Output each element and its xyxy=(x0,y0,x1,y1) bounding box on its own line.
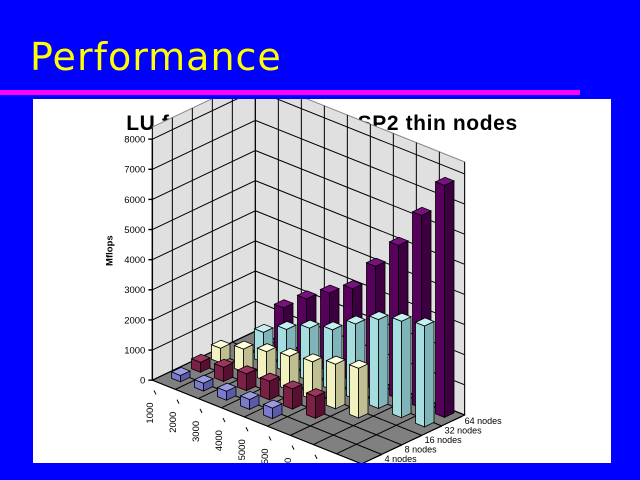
x-axis-tick xyxy=(200,409,202,413)
y-axis-tick-label: 7000 xyxy=(124,165,145,176)
x-axis-tick-label: 3000 xyxy=(191,421,202,442)
bar-side-face xyxy=(402,317,412,418)
bar-8-nodes-2000[interactable] xyxy=(215,359,234,381)
y-axis-tick-label: 1000 xyxy=(124,345,145,356)
y-axis-tick-label: 5000 xyxy=(124,225,145,236)
y-axis-tick-label: 6000 xyxy=(124,195,145,206)
title-underline-rule xyxy=(0,90,580,95)
x-axis-tick xyxy=(292,446,294,450)
y-axis-tick-label: 3000 xyxy=(124,285,145,296)
x-axis-tick-label: 1000 xyxy=(145,402,156,423)
x-axis-tick xyxy=(246,427,248,431)
bar-8-nodes-4000[interactable] xyxy=(261,373,280,400)
x-axis-tick xyxy=(269,436,271,440)
x-axis-tick xyxy=(315,455,317,459)
x-axis-tick xyxy=(223,418,225,422)
bar-16-nodes-7500[interactable] xyxy=(327,356,346,409)
bar-front-face xyxy=(416,322,425,427)
bar-front-face xyxy=(307,393,316,418)
bar-side-face xyxy=(379,315,389,408)
series-label-8-nodes: 8 nodes xyxy=(405,445,438,455)
bar-front-face xyxy=(436,182,445,418)
bar-8-nodes-3000[interactable] xyxy=(238,366,257,391)
slide-canvas: Performance LU fact+solve on IBM SP2 thi… xyxy=(0,0,640,480)
bar-front-face xyxy=(284,385,293,409)
bar-front-face xyxy=(350,365,359,418)
x-axis-tick xyxy=(154,390,156,394)
series-label-64-nodes: 64 nodes xyxy=(465,416,503,426)
y-axis-title: Mflops xyxy=(104,235,115,266)
series-label-4-nodes: 4 nodes xyxy=(385,454,418,463)
bar-front-face xyxy=(370,316,379,409)
x-axis-tick-label: 7500 xyxy=(260,448,271,463)
chart-panel: LU fact+solve on IBM SP2 thin nodes 0100… xyxy=(33,99,611,463)
bar-front-face xyxy=(393,318,402,418)
y-axis-tick-label: 0 xyxy=(140,376,145,387)
bar-32-nodes-12500[interactable] xyxy=(393,313,412,418)
series-label-16-nodes: 16 nodes xyxy=(425,435,463,445)
bar-16-nodes-10000[interactable] xyxy=(350,360,369,418)
x-axis-tick-label: 10000 xyxy=(283,458,294,463)
bar-32-nodes-10000[interactable] xyxy=(370,312,389,409)
slide-title: Performance xyxy=(30,38,282,76)
bar-64-nodes-15000[interactable] xyxy=(436,177,455,417)
x-axis-tick xyxy=(177,400,179,404)
bar-side-face xyxy=(425,322,435,427)
series-label-32-nodes: 32 nodes xyxy=(445,426,483,436)
chart-3d-plot[interactable]: 010002000300040005000600070008000Mflops1… xyxy=(33,99,611,463)
bar-8-nodes-5000[interactable] xyxy=(284,381,303,409)
x-axis-tick-label: 2000 xyxy=(168,412,179,433)
bar-side-face xyxy=(359,364,369,418)
bar-16-nodes-1000[interactable] xyxy=(212,340,231,363)
x-axis-tick-label: 5000 xyxy=(237,439,248,460)
y-axis-tick-label: 2000 xyxy=(124,315,145,326)
bar-side-face xyxy=(336,360,346,409)
x-axis-tick-label: 4000 xyxy=(214,430,225,451)
y-axis-tick-label: 8000 xyxy=(124,135,145,146)
bar-side-face xyxy=(445,181,455,418)
bar-front-face xyxy=(327,361,336,409)
bar-8-nodes-7500[interactable] xyxy=(307,389,326,419)
y-axis-tick-label: 4000 xyxy=(124,255,145,266)
bar-32-nodes-15000[interactable] xyxy=(416,318,435,427)
bar-4-nodes-5000[interactable] xyxy=(264,400,283,419)
